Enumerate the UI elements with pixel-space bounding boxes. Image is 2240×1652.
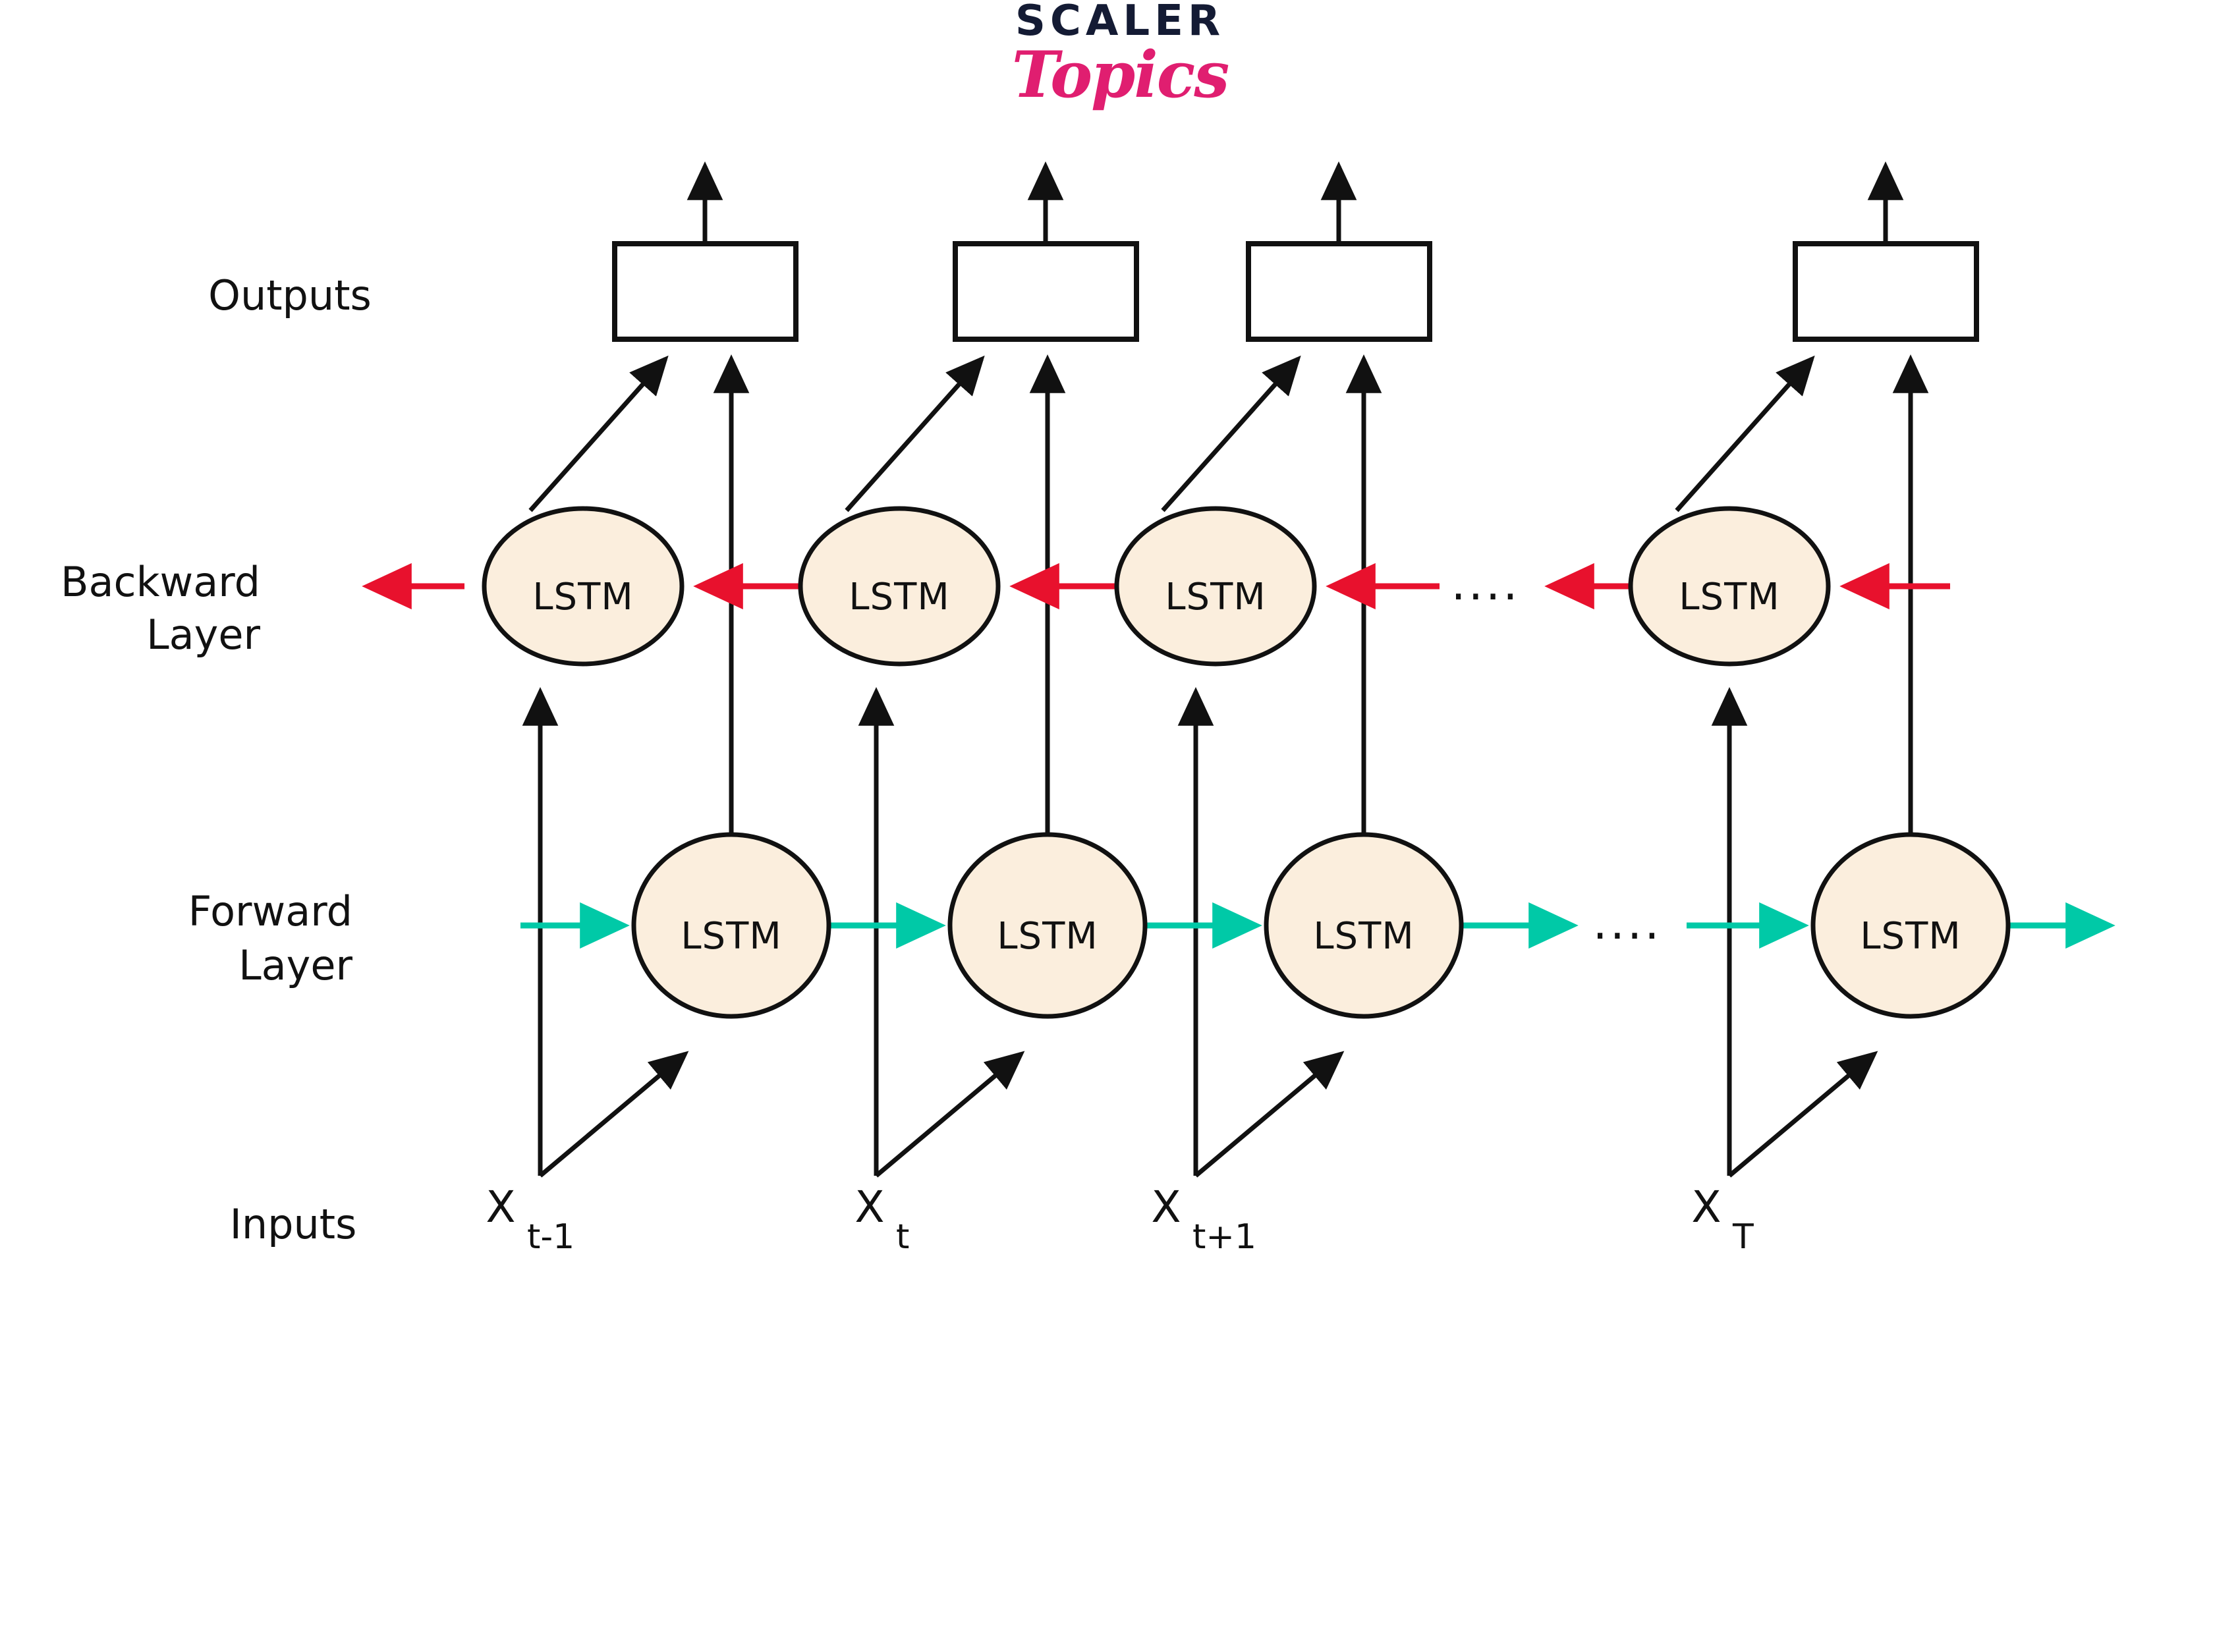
input-label-3: X t+1	[1151, 1182, 1256, 1257]
bilstm-diagram: Outputs Backward Layer Forward Layer Inp…	[0, 0, 2240, 1652]
output-box-2[interactable]	[955, 244, 1136, 339]
input-label-2: X t	[854, 1182, 909, 1257]
output-box-3[interactable]	[1248, 244, 1430, 339]
arrow-backward-to-output-4	[1677, 359, 1812, 510]
backward-cell-label-1: LSTM	[532, 576, 633, 619]
backward-cell-label-3: LSTM	[1165, 576, 1266, 619]
input-label-1: X t-1	[486, 1182, 574, 1257]
input-label-sub-1: t-1	[527, 1217, 574, 1257]
brand-logo: SCALER Topics	[0, 0, 2240, 107]
output-box-1[interactable]	[615, 244, 796, 339]
arrow-backward-to-output-1	[530, 359, 665, 510]
input-to-backward-arrows	[540, 692, 1729, 711]
output-exit-arrows	[705, 166, 1886, 244]
output-boxes	[615, 244, 1976, 339]
row-label-outputs: Outputs	[208, 271, 372, 319]
row-label-forward-line2: Layer	[238, 941, 352, 989]
forward-cell-label-1: LSTM	[681, 915, 781, 958]
row-label-backward-line2: Layer	[146, 611, 260, 659]
input-to-forward-arrows	[540, 1054, 1874, 1176]
arrow-backward-to-output-2	[847, 359, 982, 510]
backward-lstm-cell-3[interactable]: LSTM	[1117, 509, 1314, 664]
arrow-input-to-forward-3	[1196, 1054, 1341, 1176]
row-label-forward-line1: Forward	[188, 887, 352, 935]
output-box-shape-4[interactable]	[1795, 244, 1976, 339]
forward-lstm-cell-1[interactable]: LSTM	[634, 835, 829, 1016]
input-label-4: X T	[1691, 1182, 1754, 1257]
backward-to-output-arrows	[530, 359, 1812, 510]
arrow-input-to-forward-1	[540, 1054, 685, 1176]
backward-cell-label-2: LSTM	[849, 576, 949, 619]
forward-lstm-cell-4[interactable]: LSTM	[1813, 835, 2008, 1016]
forward-layer-ellipsis: ....	[1592, 896, 1662, 950]
logo-wordmark-scaler: SCALER	[0, 0, 2240, 42]
forward-cell-label-2: LSTM	[997, 915, 1098, 958]
input-label-sub-3: t+1	[1192, 1217, 1256, 1257]
output-box-shape-2[interactable]	[955, 244, 1136, 339]
input-label-main-1: X	[486, 1182, 515, 1232]
forward-cell-label-3: LSTM	[1313, 915, 1414, 958]
forward-lstm-cell-2[interactable]: LSTM	[950, 835, 1145, 1016]
arrow-input-to-forward-2	[876, 1054, 1021, 1176]
arrow-input-to-forward-4	[1729, 1054, 1874, 1176]
row-label-backward-line1: Backward	[61, 558, 260, 606]
forward-cell-label-4: LSTM	[1860, 915, 1961, 958]
arrow-backward-to-output-3	[1163, 359, 1298, 510]
forward-lstm-cell-3[interactable]: LSTM	[1266, 835, 1461, 1016]
input-label-sub-4: T	[1732, 1217, 1754, 1257]
input-labels: X t-1 X t X t+1 X T	[486, 1182, 1754, 1257]
output-box-4[interactable]	[1795, 244, 1976, 339]
logo-wordmark-topics: Topics	[0, 43, 2240, 107]
diagram-canvas: Outputs Backward Layer Forward Layer Inp…	[0, 0, 2240, 1652]
input-label-main-3: X	[1151, 1182, 1181, 1232]
backward-layer-ellipsis: ....	[1451, 557, 1520, 611]
backward-cell-label-4: LSTM	[1679, 576, 1779, 619]
input-label-main-4: X	[1691, 1182, 1721, 1232]
output-box-shape-1[interactable]	[615, 244, 796, 339]
output-box-shape-3[interactable]	[1248, 244, 1430, 339]
backward-lstm-cell-1[interactable]: LSTM	[484, 509, 682, 664]
input-label-main-2: X	[854, 1182, 884, 1232]
backward-lstm-cell-2[interactable]: LSTM	[800, 509, 998, 664]
row-label-inputs: Inputs	[230, 1200, 357, 1248]
input-label-sub-2: t	[896, 1217, 909, 1257]
backward-lstm-cell-4[interactable]: LSTM	[1631, 509, 1828, 664]
